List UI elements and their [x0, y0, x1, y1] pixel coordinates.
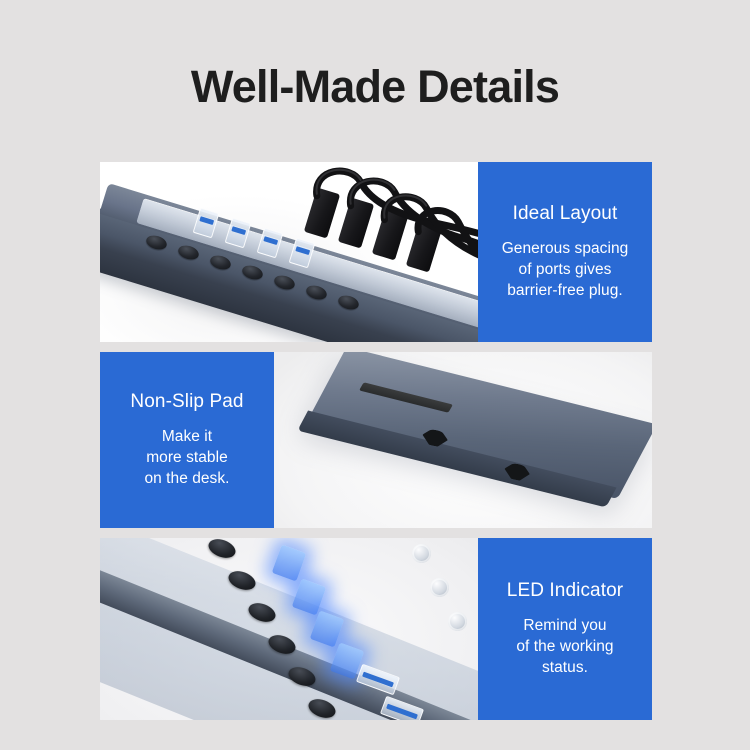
photo-backdrop — [100, 162, 478, 342]
caption-body: Remind you of the working status. — [516, 615, 613, 678]
usb-connector — [338, 197, 374, 248]
page-title: Well-Made Details — [0, 62, 750, 112]
caption-body: Generous spacing of ports gives barrier-… — [502, 238, 629, 301]
usb-connector — [406, 221, 442, 272]
caption-title: LED Indicator — [507, 580, 623, 602]
product-photo-led-indicator — [100, 538, 478, 720]
feature-caption-led-indicator: LED Indicator Remind you of the working … — [478, 538, 652, 720]
usb-connector — [304, 187, 340, 238]
photo-backdrop — [100, 538, 478, 720]
product-photo-ideal-layout — [100, 162, 478, 342]
power-button-icon — [206, 538, 238, 561]
led-indicator-light — [272, 544, 307, 581]
product-detail-page: Well-Made Details — [0, 0, 750, 750]
screw-head-icon — [448, 612, 467, 631]
feature-panel-led-indicator: LED Indicator Remind you of the working … — [100, 538, 652, 720]
feature-panel-non-slip-pad: Non-Slip Pad Make it more stable on the … — [100, 352, 652, 528]
feature-caption-ideal-layout: Ideal Layout Generous spacing of ports g… — [478, 162, 652, 342]
product-photo-non-slip-pad — [274, 352, 652, 528]
feature-panel-ideal-layout: Ideal Layout Generous spacing of ports g… — [100, 162, 652, 342]
photo-backdrop — [274, 352, 652, 528]
caption-title: Ideal Layout — [513, 203, 618, 225]
feature-caption-non-slip-pad: Non-Slip Pad Make it more stable on the … — [100, 352, 274, 528]
usb-connector — [372, 209, 408, 260]
screw-head-icon — [412, 544, 431, 563]
caption-title: Non-Slip Pad — [130, 391, 243, 413]
caption-body: Make it more stable on the desk. — [144, 426, 229, 489]
screw-head-icon — [430, 578, 449, 597]
